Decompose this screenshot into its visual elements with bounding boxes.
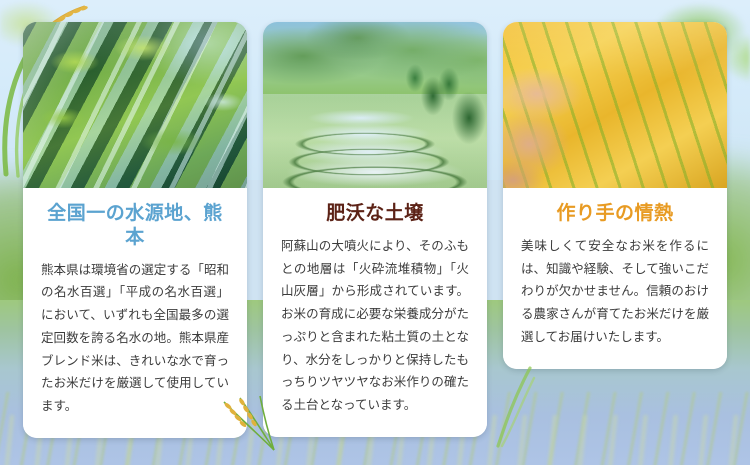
terraced-rice-paddy-photo — [263, 22, 487, 188]
feature-card-list: 全国一の水源地、熊本 熊本県は環境省の選定する「昭和の名水百選」「平成の名水百選… — [0, 0, 750, 465]
spring-water-photo — [23, 22, 247, 188]
photo-trees — [263, 22, 487, 188]
photo-farmer-hand — [503, 68, 613, 188]
feature-section: 全国一の水源地、熊本 熊本県は環境省の選定する「昭和の名水百選」「平成の名水百選… — [0, 0, 750, 465]
card-title: 肥沃な土壌 — [281, 202, 469, 226]
hands-holding-rice-ears-photo — [503, 22, 727, 188]
feature-card-passion[interactable]: 作り手の情熱 美味しくて安全なお米を作るには、知識や経験、そして強いこだわりが欠… — [503, 22, 727, 369]
card-body: 作り手の情熱 美味しくて安全なお米を作るには、知識や経験、そして強いこだわりが欠… — [503, 188, 727, 369]
feature-card-soil[interactable]: 肥沃な土壌 阿蘇山の大噴火により、そのふもとの地層は「火砕流堆積物」「火山灰層」… — [263, 22, 487, 437]
card-title: 全国一の水源地、熊本 — [41, 202, 229, 250]
card-text: 熊本県は環境省の選定する「昭和の名水百選」「平成の名水百選」において、いずれも全… — [41, 259, 229, 418]
card-text: 阿蘇山の大噴火により、そのふもとの地層は「火砕流堆積物」「火山灰層」から形成され… — [281, 235, 469, 417]
card-title: 作り手の情熱 — [521, 202, 709, 226]
feature-card-water[interactable]: 全国一の水源地、熊本 熊本県は環境省の選定する「昭和の名水百選」「平成の名水百選… — [23, 22, 247, 438]
card-body: 肥沃な土壌 阿蘇山の大噴火により、そのふもとの地層は「火砕流堆積物」「火山灰層」… — [263, 188, 487, 437]
photo-moss-patches — [23, 22, 247, 188]
card-text: 美味しくて安全なお米を作るには、知識や経験、そして強いこだわりが欠かせません。信… — [521, 235, 709, 349]
card-body: 全国一の水源地、熊本 熊本県は環境省の選定する「昭和の名水百選」「平成の名水百選… — [23, 188, 247, 438]
